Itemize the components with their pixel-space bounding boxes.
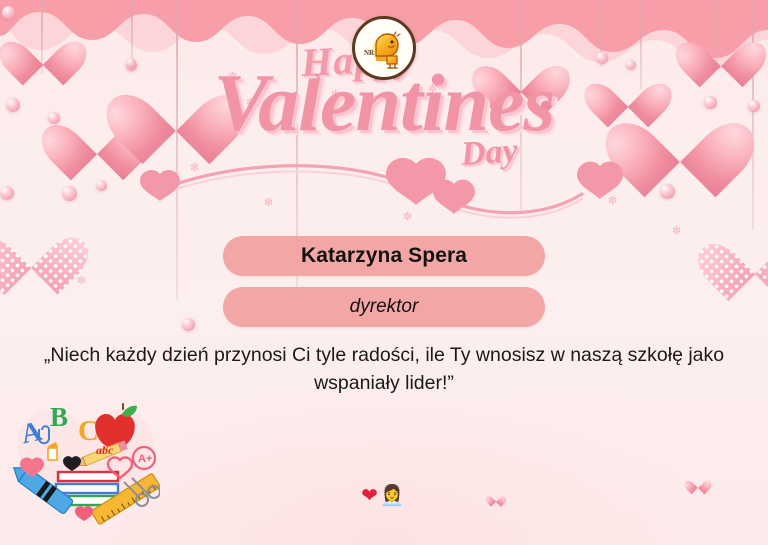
blurred-heart xyxy=(396,404,430,435)
heart-string xyxy=(176,0,178,300)
svg-text:B: B xyxy=(50,402,68,432)
blurred-heart xyxy=(525,403,547,423)
hanging-heart xyxy=(489,44,553,102)
sparkle-icon: ✼ xyxy=(246,98,255,109)
bead xyxy=(6,98,20,112)
sparkle-icon: ✼ xyxy=(552,94,561,105)
hanging-heart xyxy=(692,22,750,76)
sparkle-icon: ✼ xyxy=(500,86,509,97)
logo-initials: NR xyxy=(364,49,374,57)
bead xyxy=(2,6,15,19)
bead xyxy=(48,112,60,124)
quote-text: „Niech każdy dzień przynosi Ci tyle rado… xyxy=(39,341,729,398)
title-day: Day xyxy=(459,132,518,174)
svg-text:A+: A+ xyxy=(138,453,152,465)
sparkle-icon: ✼ xyxy=(228,72,237,83)
recipient-role: dyrektor xyxy=(350,296,419,318)
recipient-name: Katarzyna Spera xyxy=(301,244,467,268)
heart-string xyxy=(520,0,522,212)
recipient-name-banner: Katarzyna Spera xyxy=(223,236,545,276)
bead xyxy=(62,186,77,201)
bead xyxy=(0,186,14,200)
bead xyxy=(660,184,675,199)
bead xyxy=(626,60,636,70)
chick-logo-badge: NR xyxy=(352,16,416,80)
chick-icon xyxy=(361,25,407,71)
school-supplies-collage: A B C xyxy=(12,396,160,536)
sparkle-icon: ✼ xyxy=(331,90,340,101)
abc-label: abc xyxy=(96,443,114,457)
sparkle-icon: ✼ xyxy=(264,198,273,209)
sparkle-icon: ✼ xyxy=(608,196,617,207)
bead xyxy=(126,58,136,68)
sparkle-icon: ✼ xyxy=(672,226,681,237)
hanging-heart xyxy=(15,22,71,74)
hanging-heart-polkadot xyxy=(718,218,768,286)
sparkle-icon: ✼ xyxy=(77,276,86,287)
heart-emoji: ❤ xyxy=(361,485,380,507)
sparkle-icon: ✼ xyxy=(428,84,437,95)
heart-string xyxy=(752,0,754,230)
hanging-heart-polkadot xyxy=(0,212,68,280)
heart-string xyxy=(131,0,133,66)
office-worker-emoji: 👩‍💼 xyxy=(380,485,407,507)
bead xyxy=(596,52,608,64)
bead xyxy=(748,100,760,112)
supplies-graphic: A B C xyxy=(12,396,160,536)
sparkle-icon: ✼ xyxy=(403,212,412,223)
bead xyxy=(704,96,717,109)
heart-swirl-divider xyxy=(130,158,638,232)
sparkle-icon: ✼ xyxy=(190,163,199,174)
valentines-card: ✼ ✼ ✼ ✼ ✼ ✼ ✼ ✼ ✼ ✼ ✼ ✼ Happy Valentines… xyxy=(0,0,768,545)
recipient-role-banner: dyrektor xyxy=(223,287,545,327)
bead xyxy=(96,180,107,191)
blurred-heart xyxy=(600,296,656,347)
hanging-heart xyxy=(131,64,221,146)
